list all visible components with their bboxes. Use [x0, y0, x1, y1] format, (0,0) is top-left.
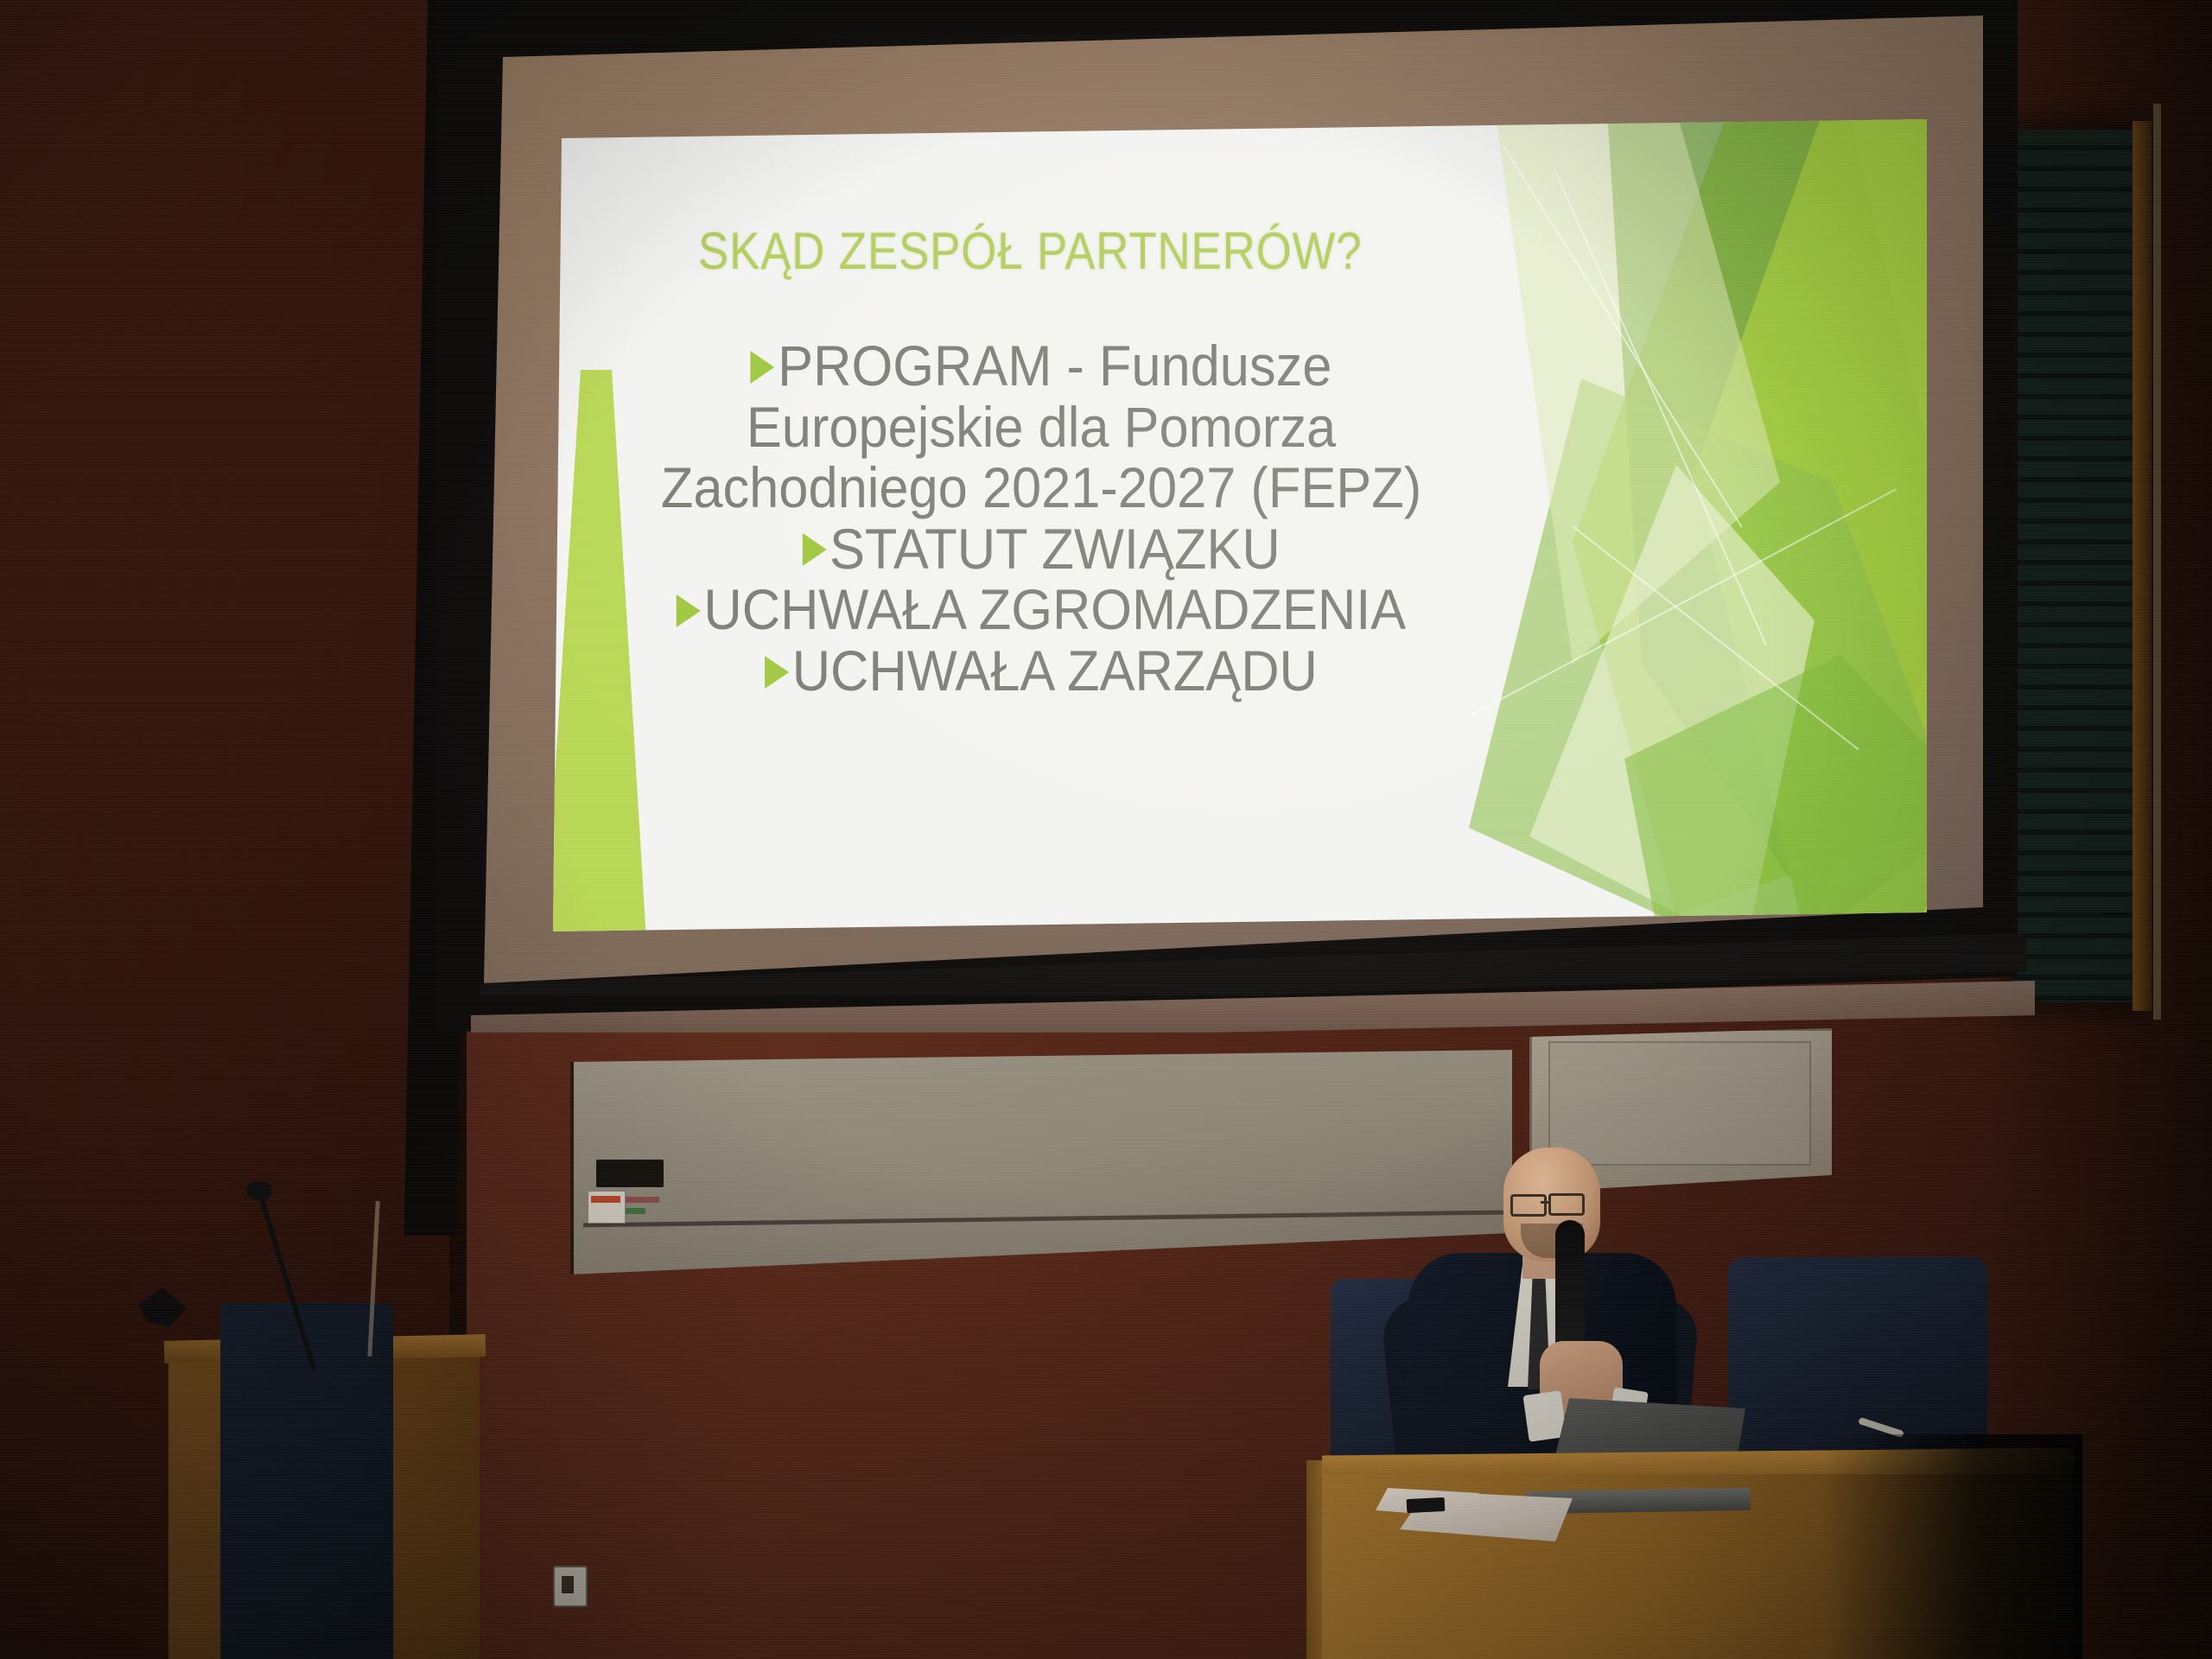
- photo-canvas: SKĄD ZESPÓŁ PARTNERÓW? PROGRAM - Fundusz…: [0, 0, 2212, 1659]
- slide-bullet-line-3: Zachodniego 2021-2027 (FEPZ): [588, 457, 1496, 518]
- whiteboard-label: [596, 1160, 664, 1187]
- slide-bullet-text: Zachodniego 2021-2027 (FEPZ): [661, 455, 1421, 519]
- slide-bullet-line-5: UCHWAŁA ZGROMADZENIA: [588, 579, 1496, 640]
- slide-bullet-list: PROGRAM - Fundusze Europejskie dla Pomor…: [553, 335, 1529, 702]
- slide-bullet-line-1: PROGRAM - Fundusze: [588, 335, 1496, 397]
- slide-bullet-text: PROGRAM - Fundusze: [778, 334, 1332, 397]
- slide-bullet-text: UCHWAŁA ZGROMADZENIA: [703, 577, 1406, 641]
- slide-bullet-line-2: Europejskie dla Pomorza: [588, 397, 1496, 458]
- triangle-bullet-icon: [765, 656, 789, 689]
- slide-bullet-text: UCHWAŁA ZARZĄDU: [792, 639, 1318, 702]
- podium-microphone-icon: [247, 1182, 271, 1199]
- glasses-lens-left-icon: [1510, 1194, 1547, 1217]
- slide-bullet-line-6: UCHWAŁA ZARZĄDU: [588, 640, 1496, 702]
- wall-highlight-strip: [2153, 104, 2161, 1020]
- table-shadow: [1823, 1434, 2082, 1659]
- whiteboard-small-inner: [1548, 1041, 1811, 1166]
- glasses-bridge-icon: [1541, 1201, 1550, 1204]
- power-socket-slot: [562, 1576, 574, 1593]
- slide-bullet-text: Europejskie dla Pomorza: [747, 395, 1336, 459]
- wall-notice-stripe: [591, 1196, 620, 1203]
- presentation-slide: SKĄD ZESPÓŁ PARTNERÓW? PROGRAM - Fundusz…: [553, 119, 1927, 931]
- triangle-bullet-icon: [677, 594, 701, 627]
- triangle-bullet-icon: [751, 351, 775, 384]
- slide-bullet-line-4: STATUT ZWIĄZKU: [588, 518, 1496, 580]
- acoustic-panel-edge: [2133, 121, 2152, 1011]
- presenter-cuff-left: [1522, 1390, 1567, 1442]
- document-dark-marking: [1407, 1497, 1446, 1513]
- acoustic-slat-panel: [2013, 130, 2134, 1002]
- slide-bullet-text: STATUT ZWIĄZKU: [829, 517, 1281, 581]
- triangle-bullet-icon: [802, 533, 826, 566]
- slide-title: SKĄD ZESPÓŁ PARTNERÓW?: [698, 221, 1363, 281]
- glasses-lens-right-icon: [1548, 1193, 1585, 1216]
- handheld-microphone-icon: [1555, 1220, 1585, 1358]
